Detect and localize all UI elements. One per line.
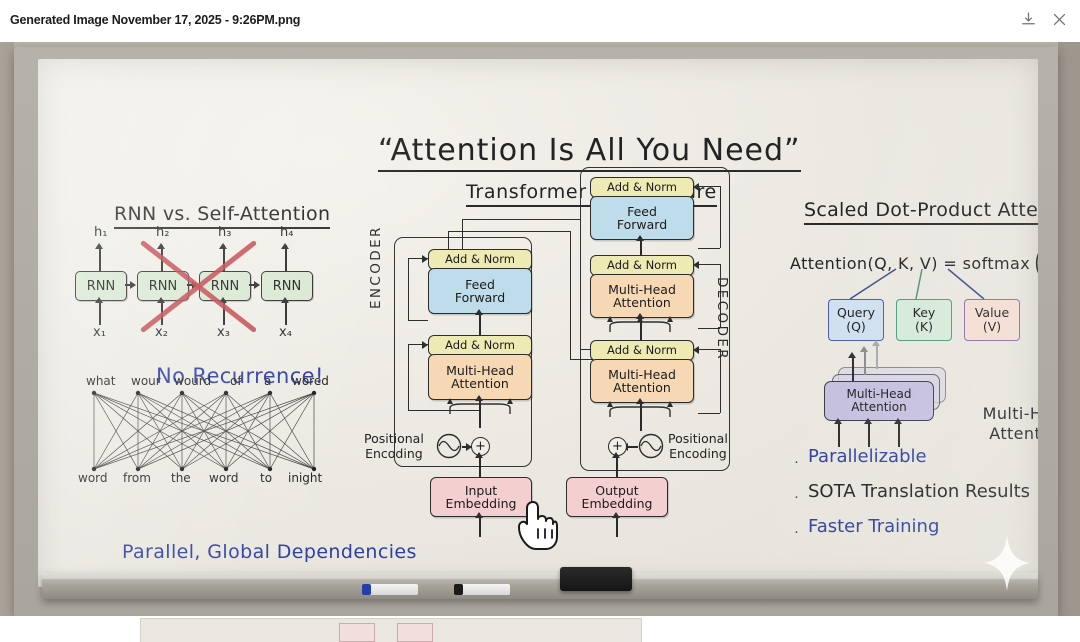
- graph-top-word-1: what: [86, 374, 115, 388]
- encoder-ff-line1: Feed: [455, 278, 505, 292]
- mha-in-line-2: [868, 421, 870, 447]
- rnn-in-line-1: [99, 301, 101, 325]
- file-name-label: Generated Image November 17, 2025 - 9:26…: [10, 13, 300, 27]
- mha-out-line-3: [876, 343, 878, 369]
- thumb-box-1: [339, 623, 375, 642]
- mha-out-arrow-2: [860, 346, 868, 352]
- bullet-dot-3: ·: [794, 523, 799, 540]
- mha-card-line2: Attention: [846, 401, 911, 414]
- encoder-mha-line2: Attention: [446, 377, 514, 391]
- hidden-label-h3: h₃: [218, 225, 231, 240]
- graph-top-word-2: wour: [131, 374, 161, 388]
- pe-right-line2: Encoding: [668, 446, 728, 461]
- rnn-in-line-4: [285, 301, 287, 325]
- input-embed-line2: Embedding: [446, 497, 517, 511]
- pe-left-line1: Positional: [364, 431, 424, 446]
- graph-bottom-word-2: from: [123, 471, 151, 485]
- qkv-connector-lines: [818, 267, 1018, 301]
- output-embed-line1: Output: [582, 484, 653, 498]
- decoder-cross-line1: Multi-Head: [608, 283, 676, 297]
- decoder-add-norm-1: Add & Norm: [590, 340, 694, 361]
- decoder-self-fan: [604, 401, 676, 419]
- dec-res1-arrow: [693, 346, 699, 354]
- mha-card-front: Multi-Head Attention: [824, 381, 934, 421]
- mha-out-line-1: [852, 355, 854, 381]
- mha-in-line-3: [898, 421, 900, 447]
- decoder-ff-line1: Feed: [617, 205, 667, 219]
- dec-res3-top: [698, 186, 720, 187]
- encoder-feed-forward: Feed Forward: [428, 268, 532, 314]
- mha-out-line-2: [864, 349, 866, 375]
- input-embed-line1: Input: [446, 484, 517, 498]
- dependency-graph-edges: [80, 389, 330, 474]
- graph-top-word-4: of: [230, 374, 242, 388]
- decoder-mha-line1: Multi-Head: [608, 368, 676, 382]
- bullet-parallelizable: Parallelizable: [808, 446, 927, 467]
- mha-in-arrow-2: [864, 418, 872, 424]
- key-line1: Key: [913, 306, 936, 320]
- enc-res2-arrow: [422, 341, 428, 349]
- dec-res3-arrow: [693, 183, 699, 191]
- black-marker-cap: [454, 584, 463, 595]
- decoder-feed-forward: Feed Forward: [590, 196, 694, 240]
- query-line1: Query: [837, 306, 875, 320]
- enc-res-line-bot: [408, 320, 428, 321]
- rnn-in-arrow-2: [157, 297, 165, 303]
- tray-lip: [42, 573, 1038, 579]
- decoder-cross-line2: Attention: [608, 296, 676, 310]
- embed-right-up-line: [616, 455, 618, 477]
- enc-res-arrow-top: [422, 255, 428, 263]
- black-marker: [454, 584, 510, 595]
- hidden-label-h2: h₂: [156, 225, 169, 240]
- download-icon[interactable]: [1020, 11, 1037, 28]
- dec-mid-arrow-2: [636, 235, 644, 241]
- header-actions: [1020, 11, 1068, 28]
- embed-right-up-arrow: [612, 452, 620, 458]
- dec-res1-vert: [720, 349, 721, 413]
- enc-mid-line: [479, 312, 481, 335]
- positional-encoding-right-label: Positional Encoding: [668, 431, 728, 461]
- dec-res2-bot: [698, 328, 720, 329]
- hidden-label-h1: h₁: [94, 225, 107, 240]
- blue-marker: [362, 584, 418, 595]
- whiteboard-frame: “Attention Is All You Need” Transformer …: [14, 47, 1058, 616]
- mha-out-arrow-1: [848, 352, 856, 358]
- value-box: Value (V): [964, 299, 1020, 341]
- sine-wave-icon-left: [436, 433, 462, 459]
- bullet-dot-2: ·: [794, 488, 799, 505]
- decoder-mha-line2: Attention: [608, 381, 676, 395]
- encoder-add-norm-1: Add & Norm: [428, 335, 532, 356]
- key-line2: (K): [913, 320, 936, 334]
- enc-out-vert: [462, 219, 463, 249]
- output-embed-feed-arrow: [612, 512, 620, 518]
- enc-res-vert-top: [408, 258, 409, 320]
- close-icon[interactable]: [1051, 11, 1068, 28]
- encoder-ff-line2: Forward: [455, 291, 505, 305]
- thumb-box-2: [397, 623, 433, 642]
- dec-res1-top: [698, 349, 720, 350]
- decoder-add-norm-3: Add & Norm: [590, 177, 694, 198]
- output-embedding-block: Output Embedding: [566, 477, 668, 517]
- output-embed-line2: Embedding: [582, 497, 653, 511]
- positional-encoding-left-label: Positional Encoding: [364, 431, 424, 461]
- blue-marker-cap: [362, 584, 371, 595]
- decoder-cross-attention: Multi-Head Attention: [590, 274, 694, 318]
- decoder-cross-fan: [604, 316, 676, 334]
- dec-res3-bot: [698, 248, 720, 249]
- viewer-header: Generated Image November 17, 2025 - 9:26…: [0, 0, 1080, 42]
- mha-in-arrow-1: [834, 418, 842, 424]
- decoder-ff-line2: Forward: [617, 218, 667, 232]
- thumb-text-right: [471, 627, 472, 633]
- enc-out-vert2: [448, 231, 449, 249]
- right-panel-heading: Scaled Dot-Product Attention: [804, 199, 1038, 225]
- output-embed-feed-line: [616, 515, 618, 537]
- enc-out-horiz: [462, 219, 580, 220]
- rnn-in-arrow-4: [281, 297, 289, 303]
- mha-out-arrow-3: [872, 340, 880, 346]
- mha-side-line1: Multi-Head: [973, 404, 1038, 424]
- dec-res3-vert: [720, 186, 721, 248]
- whiteboard-eraser: [560, 567, 632, 591]
- pe-right-line1: Positional: [668, 431, 728, 446]
- marker-tray: [42, 573, 1038, 599]
- graph-bottom-word-5: to: [260, 471, 272, 485]
- value-line1: Value: [975, 306, 1009, 320]
- dec-res2-top: [698, 264, 720, 265]
- rnn-out-arrow-4: [281, 243, 289, 249]
- enc-res2-vert: [408, 344, 409, 410]
- graph-top-word-6: wored: [292, 374, 329, 388]
- query-box: Query (Q): [828, 299, 884, 341]
- embed-left-up-arrow: [475, 452, 483, 458]
- graph-bottom-word-4: word: [209, 471, 239, 485]
- decoder-add-norm-2: Add & Norm: [590, 255, 694, 276]
- bullet-faster-training: Faster Training: [808, 516, 939, 537]
- rnn-in-arrow-1: [95, 297, 103, 303]
- input-label-x1: x₁: [93, 325, 106, 340]
- graph-bottom-word-3: the: [171, 471, 191, 485]
- rnn-out-arrow-3: [219, 243, 227, 249]
- whiteboard-surface: “Attention Is All You Need” Transformer …: [38, 59, 1038, 587]
- encoder-multi-head-attention: Multi-Head Attention: [428, 354, 532, 400]
- encoder-label: ENCODER: [368, 225, 384, 309]
- hidden-label-h4: h₄: [280, 225, 293, 240]
- graph-bottom-word-1: word: [78, 471, 108, 485]
- mha-in-line-1: [838, 421, 840, 447]
- encoder-mha-line1: Multi-Head: [446, 364, 514, 378]
- encoder-qkv-fan: [444, 398, 516, 416]
- recurrent-arrow-3: [254, 281, 260, 289]
- key-box: Key (K): [896, 299, 952, 341]
- mha-in-arrow-3: [894, 418, 902, 424]
- mha-side-line2: Attention: [973, 424, 1038, 444]
- enc-out-horiz2: [448, 231, 570, 232]
- encoder-add-norm-2: Add & Norm: [428, 249, 532, 270]
- generated-image-photo: “Attention Is All You Need” Transformer …: [0, 42, 1080, 616]
- thumb-text-left: [151, 621, 152, 627]
- rnn-out-arrow-1: [95, 243, 103, 249]
- embed-left-up-line: [479, 455, 481, 477]
- thumbnail-item[interactable]: [140, 618, 642, 642]
- query-line2: (Q): [837, 320, 875, 334]
- input-embed-feed-arrow: [475, 512, 483, 518]
- dec-res1-bot: [698, 413, 720, 414]
- dec-res2-vert: [720, 264, 721, 328]
- enc-mid-arrow: [475, 309, 483, 315]
- rnn-out-arrow-2: [157, 243, 165, 249]
- input-label-x4: x₄: [279, 325, 292, 340]
- thumbnail-strip: [0, 616, 1080, 642]
- pe-left-line2: Encoding: [364, 446, 424, 461]
- recurrent-arrow-1: [130, 281, 136, 289]
- enc-cross-vert2: [570, 231, 571, 359]
- graph-bottom-word-6: inight: [288, 471, 322, 485]
- wall-right-edge: [1058, 42, 1080, 616]
- parallel-global-caption: Parallel, Global Dependencies: [122, 541, 417, 563]
- input-embedding-block: Input Embedding: [430, 477, 532, 517]
- bullet-sota: SOTA Translation Results: [808, 481, 1030, 502]
- value-line2: (V): [975, 320, 1009, 334]
- mha-side-label: Multi-Head Attention: [973, 404, 1038, 444]
- decoder-masked-attention: Multi-Head Attention: [590, 359, 694, 403]
- formula-paren-open: (: [1032, 248, 1038, 279]
- input-embed-feed-line: [479, 515, 481, 537]
- sine-wave-icon-right: [638, 433, 664, 459]
- graph-top-word-3: wourd: [174, 374, 211, 388]
- bullet-dot-1: ·: [794, 453, 799, 470]
- input-label-x2: x₂: [155, 325, 168, 340]
- graph-top-word-5: a: [264, 374, 271, 388]
- dec-res2-arrow: [693, 261, 699, 269]
- wall-left-edge: [0, 42, 14, 616]
- input-label-x3: x₃: [217, 325, 230, 340]
